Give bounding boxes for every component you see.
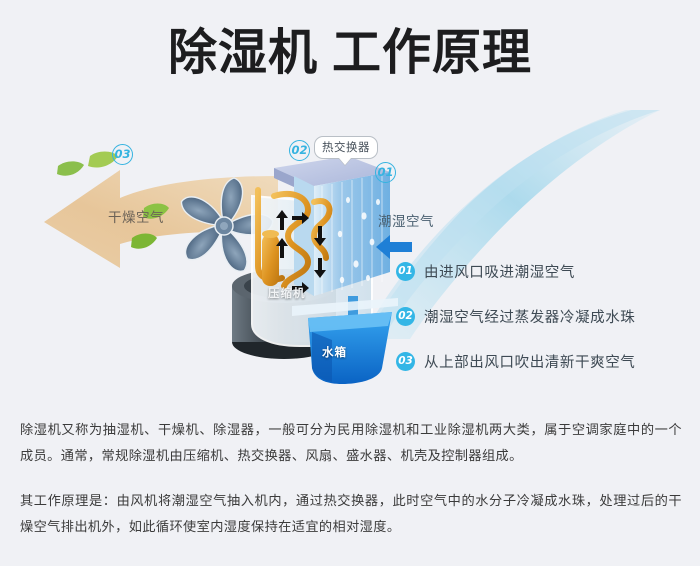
step-item: 01 由进风口吸进潮湿空气 <box>396 255 686 288</box>
description-block: 除湿机又称为抽湿机、干燥机、除湿器，一般可分为民用除湿机和工业除湿机两大类，属于… <box>20 418 682 541</box>
step-badge-03: 03 <box>396 352 415 371</box>
step-badge-02: 02 <box>396 307 415 326</box>
page-title: 除湿机工作原理 <box>0 28 700 77</box>
diagram-badge-03: 03 <box>112 144 133 165</box>
description-paragraph-1: 除湿机又称为抽湿机、干燥机、除湿器，一般可分为民用除湿机和工业除湿机两大类，属于… <box>20 418 682 470</box>
step-text-01: 由进风口吸进潮湿空气 <box>424 261 575 282</box>
description-paragraph-2: 其工作原理是：由风机将潮湿空气抽入机内，通过热交换器，此时空气中的水分子冷凝成水… <box>20 489 682 541</box>
component-label-compressor: 压缩机 <box>268 285 306 301</box>
step-item: 02 潮湿空气经过蒸发器冷凝成水珠 <box>396 300 686 333</box>
title-part-topic: 工作原理 <box>332 28 532 77</box>
title-part-product: 除湿机 <box>168 28 318 77</box>
step-text-03: 从上部出风口吹出清新干爽空气 <box>424 351 635 372</box>
step-text-02: 潮湿空气经过蒸发器冷凝成水珠 <box>424 306 635 327</box>
diagram-callout-heat-exchanger: 热交换器 <box>314 136 378 159</box>
diagram-badge-02: 02 <box>289 140 310 161</box>
diagram-label-dry-air: 干燥空气 <box>108 206 164 226</box>
diagram-label-humid-air: 潮湿空气 <box>378 210 434 230</box>
step-item: 03 从上部出风口吹出清新干爽空气 <box>396 345 686 378</box>
component-label-water-tank: 水箱 <box>322 344 347 360</box>
dehumidifier-unit-icon <box>222 146 412 396</box>
steps-list: 01 由进风口吸进潮湿空气 02 潮湿空气经过蒸发器冷凝成水珠 03 从上部出风… <box>396 255 686 390</box>
step-badge-01: 01 <box>396 262 415 281</box>
diagram-badge-01: 01 <box>375 162 396 183</box>
